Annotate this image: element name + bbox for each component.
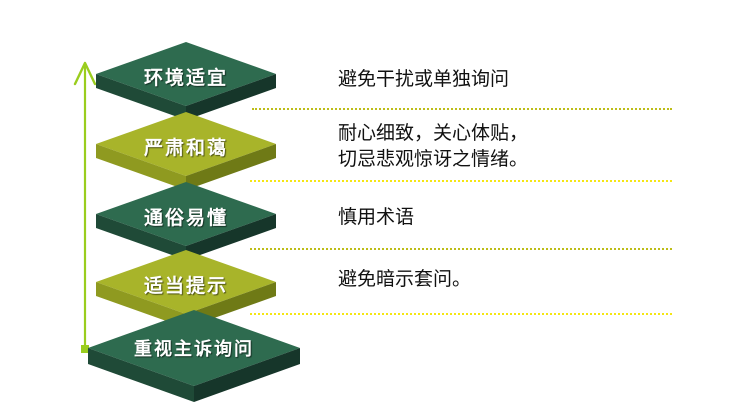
step-description-2: 耐心细致，关心体贴， 切忌悲观惊讶之情绪。 bbox=[338, 120, 528, 172]
diamond-shape-5 bbox=[88, 310, 300, 402]
diamond-shape-2 bbox=[96, 112, 276, 190]
step-description-4: 避免暗示套问。 bbox=[338, 266, 471, 292]
diamond-shape-3 bbox=[96, 182, 276, 260]
slide-canvas: 环境适宜 严肃和蔼 通俗易懂 适当提示 bbox=[0, 0, 737, 420]
step-description-3: 慎用术语 bbox=[338, 204, 414, 230]
step-block-5[interactable]: 重视主诉询问 bbox=[88, 310, 300, 402]
diamond-shape-1 bbox=[96, 42, 276, 120]
divider-line-2 bbox=[250, 180, 672, 182]
divider-line-4 bbox=[250, 313, 672, 315]
divider-line-1 bbox=[252, 108, 672, 110]
step-block-3[interactable]: 通俗易懂 bbox=[96, 182, 276, 260]
divider-line-3 bbox=[250, 248, 672, 250]
step-block-1[interactable]: 环境适宜 bbox=[96, 42, 276, 120]
step-block-2[interactable]: 严肃和蔼 bbox=[96, 112, 276, 190]
step-description-1: 避免干扰或单独询问 bbox=[338, 66, 509, 92]
